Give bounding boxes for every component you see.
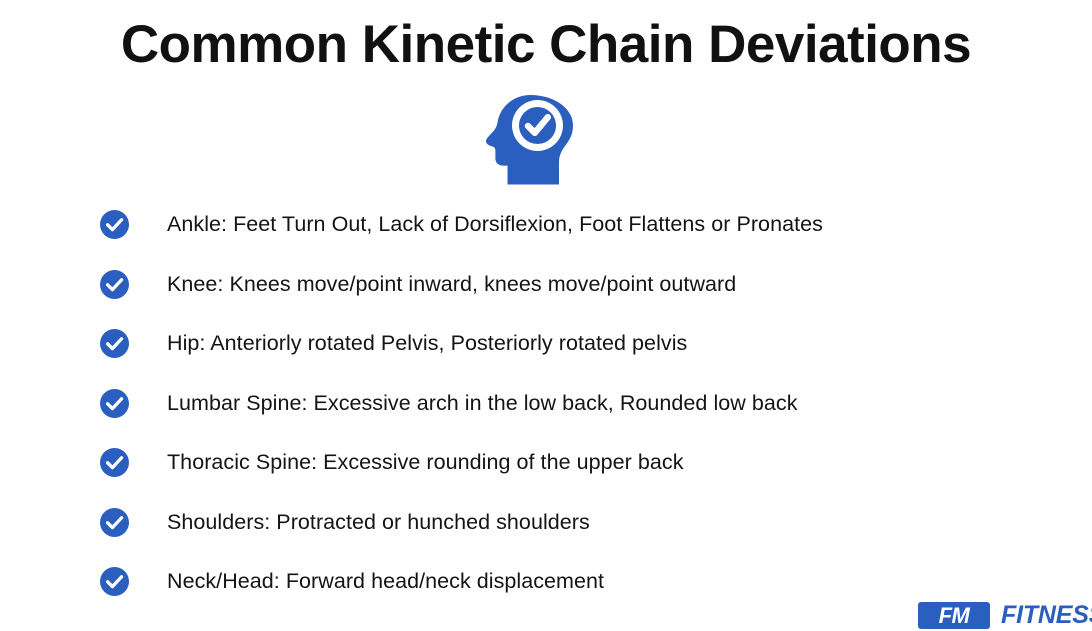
list-item-label: Shoulders: Protracted or hunched shoulde… bbox=[167, 508, 1000, 537]
list-item-label: Lumbar Spine: Excessive arch in the low … bbox=[167, 389, 1000, 418]
list-item-label: Knee: Knees move/point inward, knees mov… bbox=[167, 270, 1000, 299]
list-item: Shoulders: Protracted or hunched shoulde… bbox=[100, 508, 1000, 568]
check-circle-icon bbox=[100, 567, 129, 596]
list-item: Lumbar Spine: Excessive arch in the low … bbox=[100, 389, 1000, 449]
list-item-label: Hip: Anteriorly rotated Pelvis, Posterio… bbox=[167, 329, 1000, 358]
head-check-icon bbox=[481, 92, 577, 188]
list-item: Knee: Knees move/point inward, knees mov… bbox=[100, 270, 1000, 330]
check-circle-icon bbox=[100, 270, 129, 299]
check-circle-icon bbox=[100, 508, 129, 537]
logo-badge-text: FM bbox=[939, 605, 970, 627]
list-item: Hip: Anteriorly rotated Pelvis, Posterio… bbox=[100, 329, 1000, 389]
deviation-list: Ankle: Feet Turn Out, Lack of Dorsiflexi… bbox=[100, 210, 1000, 627]
list-item-label: Ankle: Feet Turn Out, Lack of Dorsiflexi… bbox=[167, 210, 1000, 239]
logo-badge: FM bbox=[918, 602, 990, 629]
check-circle-icon bbox=[100, 329, 129, 358]
logo-wordmark: FITNESS bbox=[1001, 603, 1092, 628]
check-circle-icon bbox=[100, 210, 129, 239]
list-item: Ankle: Feet Turn Out, Lack of Dorsiflexi… bbox=[100, 210, 1000, 270]
brand-logo: FM FITNESS bbox=[918, 601, 1092, 629]
check-circle-icon bbox=[100, 389, 129, 418]
list-item: Thoracic Spine: Excessive rounding of th… bbox=[100, 448, 1000, 508]
list-item-label: Thoracic Spine: Excessive rounding of th… bbox=[167, 448, 1000, 477]
list-item: Neck/Head: Forward head/neck displacemen… bbox=[100, 567, 1000, 627]
slide-canvas: Common Kinetic Chain Deviations Ankle: F… bbox=[0, 0, 1092, 631]
list-item-label: Neck/Head: Forward head/neck displacemen… bbox=[167, 567, 1000, 596]
check-circle-icon bbox=[100, 448, 129, 477]
page-title: Common Kinetic Chain Deviations bbox=[0, 14, 1092, 76]
